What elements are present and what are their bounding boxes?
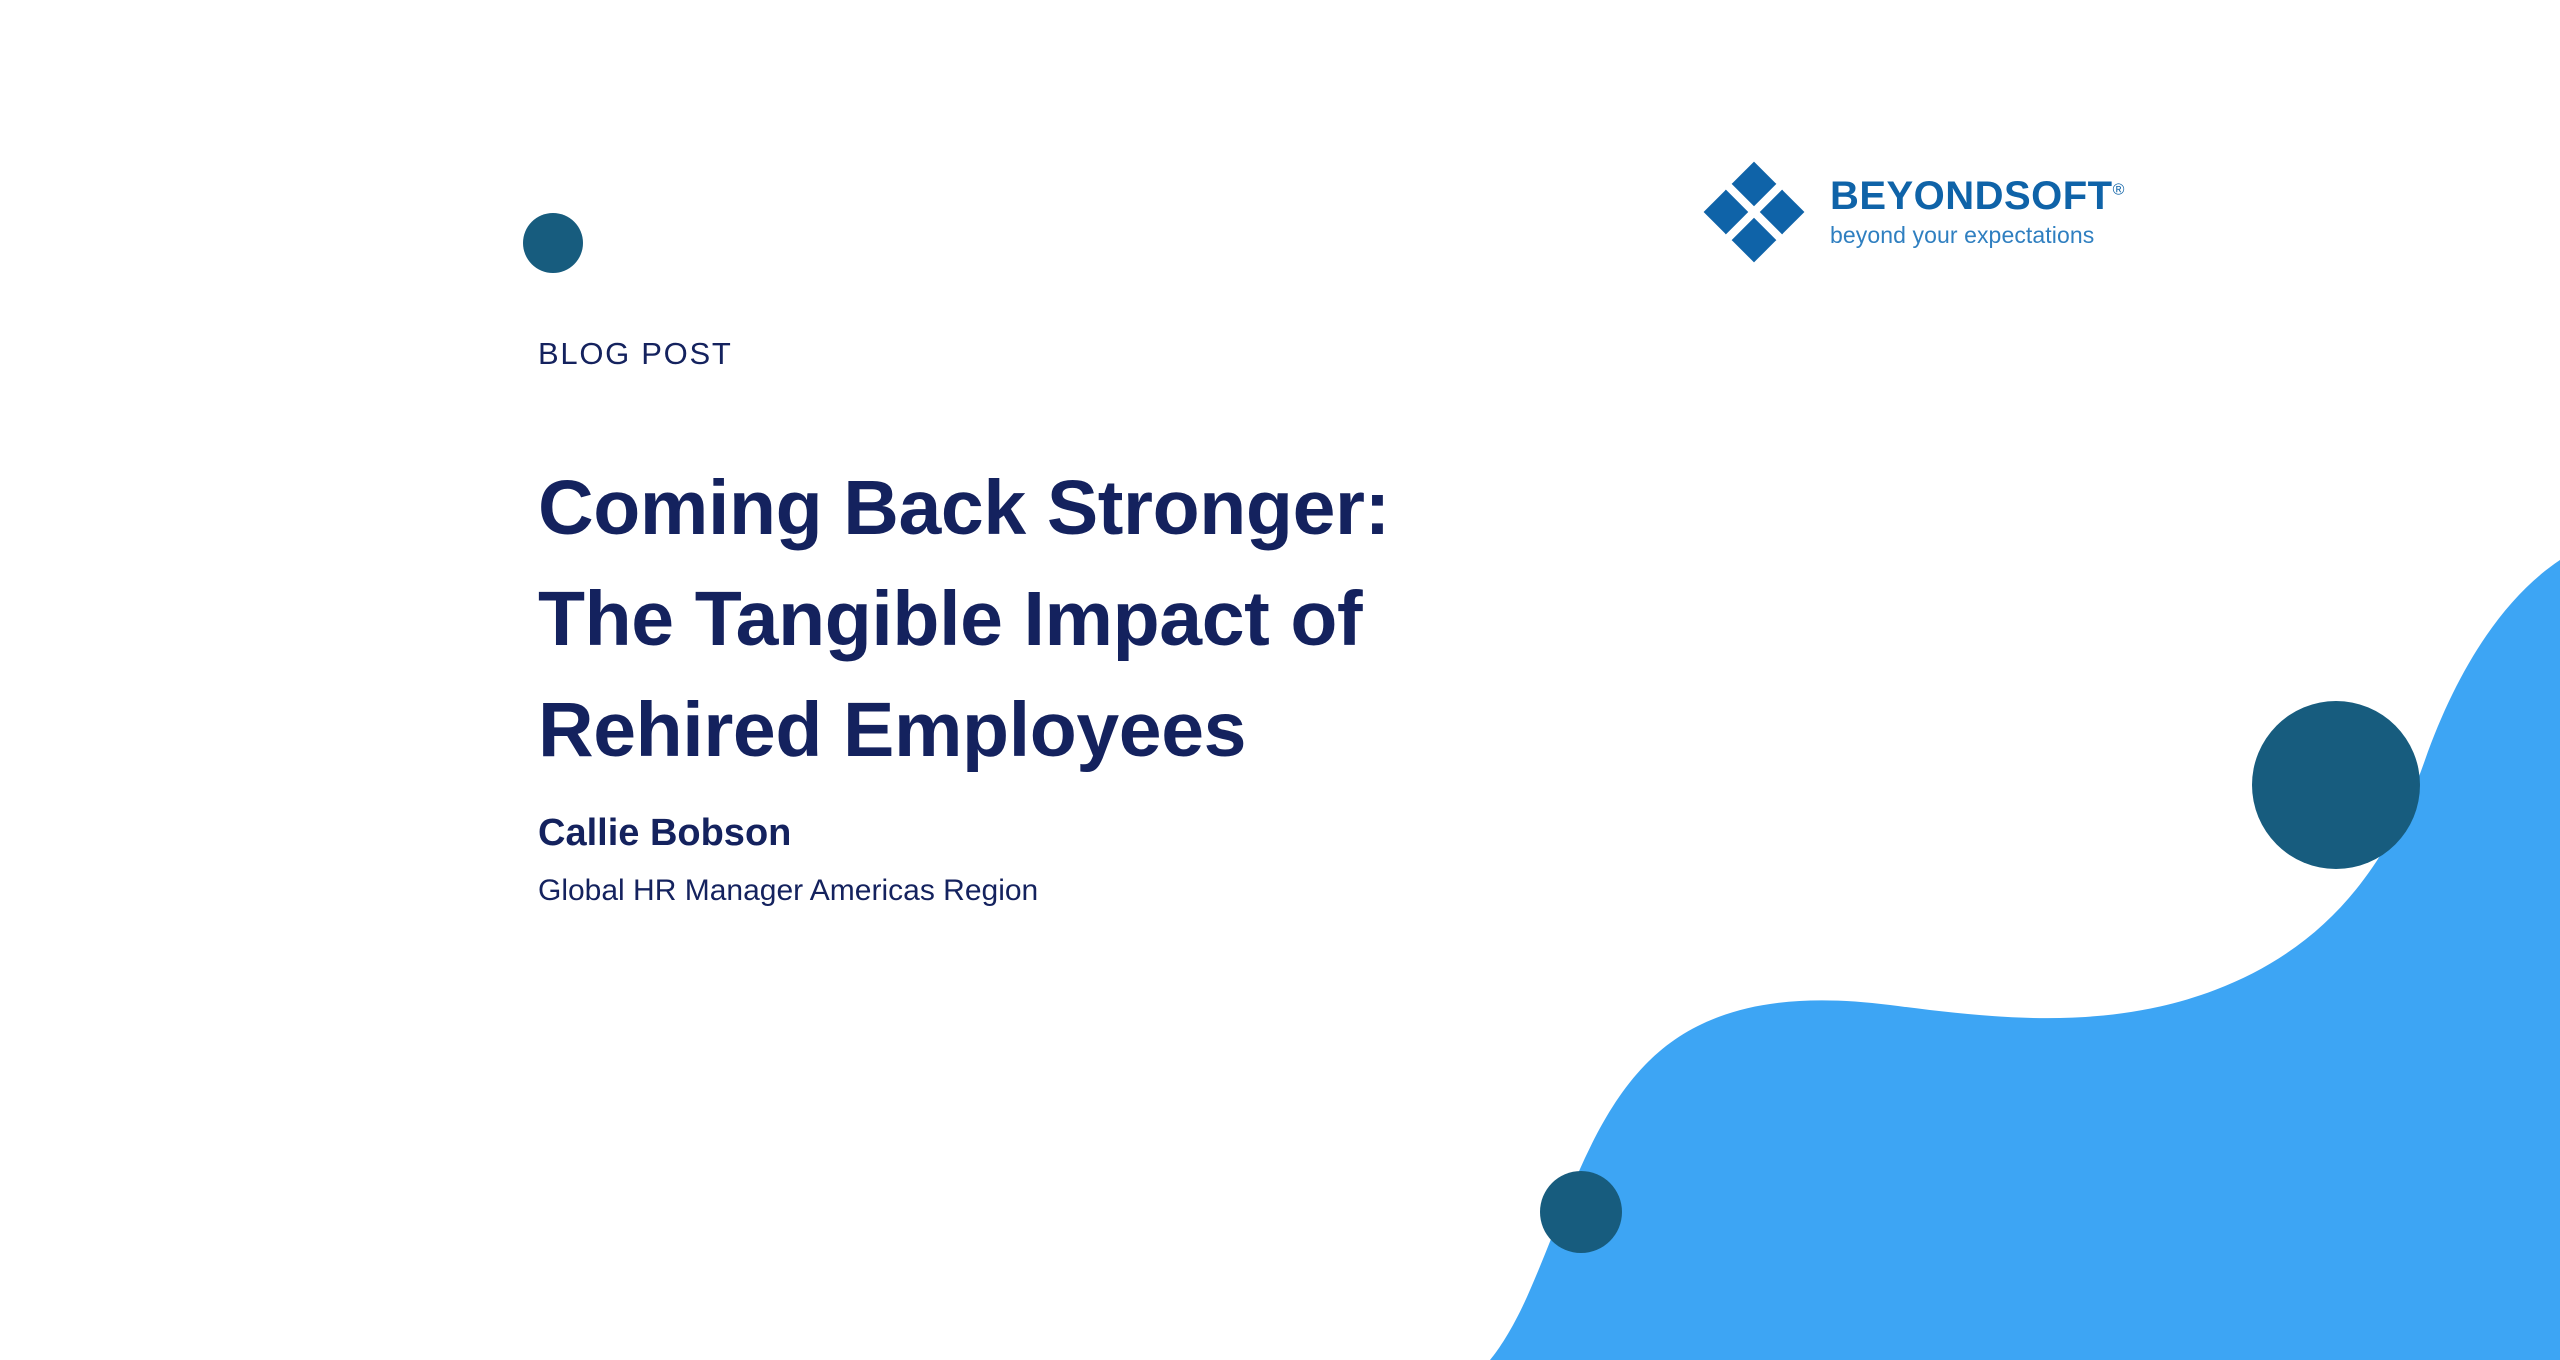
content-block: BLOG POST Coming Back Stronger: The Tang… bbox=[538, 338, 1738, 910]
beyondsoft-logo: BEYONDSOFT® beyond your expectations bbox=[1700, 158, 2124, 266]
title-line-1: Coming Back Stronger: bbox=[538, 453, 1738, 564]
bottom-right-dark-teal-lobe bbox=[2300, 1140, 2560, 1360]
logo-wordmark-text: BEYONDSOFT bbox=[1830, 174, 2113, 218]
page-title: Coming Back Stronger: The Tangible Impac… bbox=[538, 453, 1738, 786]
beyondsoft-pinwheel-diamond-logo bbox=[1700, 158, 1808, 266]
author-role: Global HR Manager Americas Region bbox=[538, 871, 1738, 910]
logo-tagline: beyond your expectations bbox=[1830, 221, 2124, 250]
logo-wordmark: BEYONDSOFT® bbox=[1830, 175, 2124, 217]
slide-root: BEYONDSOFT® beyond your expectations BLO… bbox=[0, 0, 2560, 1360]
title-line-2: The Tangible Impact of bbox=[538, 564, 1738, 675]
registered-trademark-icon: ® bbox=[2113, 181, 2125, 198]
bottom-right-dark-teal-mid-wave bbox=[1720, 690, 2560, 1360]
circle-top-left bbox=[523, 213, 583, 273]
logo-text-block: BEYONDSOFT® beyond your expectations bbox=[1830, 175, 2124, 250]
author-name: Callie Bobson bbox=[538, 808, 1738, 859]
title-line-3: Rehired Employees bbox=[538, 675, 1738, 786]
circle-bottom-small bbox=[1540, 1171, 1622, 1253]
eyebrow-label: BLOG POST bbox=[538, 338, 1738, 369]
circle-right-large bbox=[2252, 701, 2420, 869]
bottom-right-teal-back-wave bbox=[1832, 760, 2560, 1360]
